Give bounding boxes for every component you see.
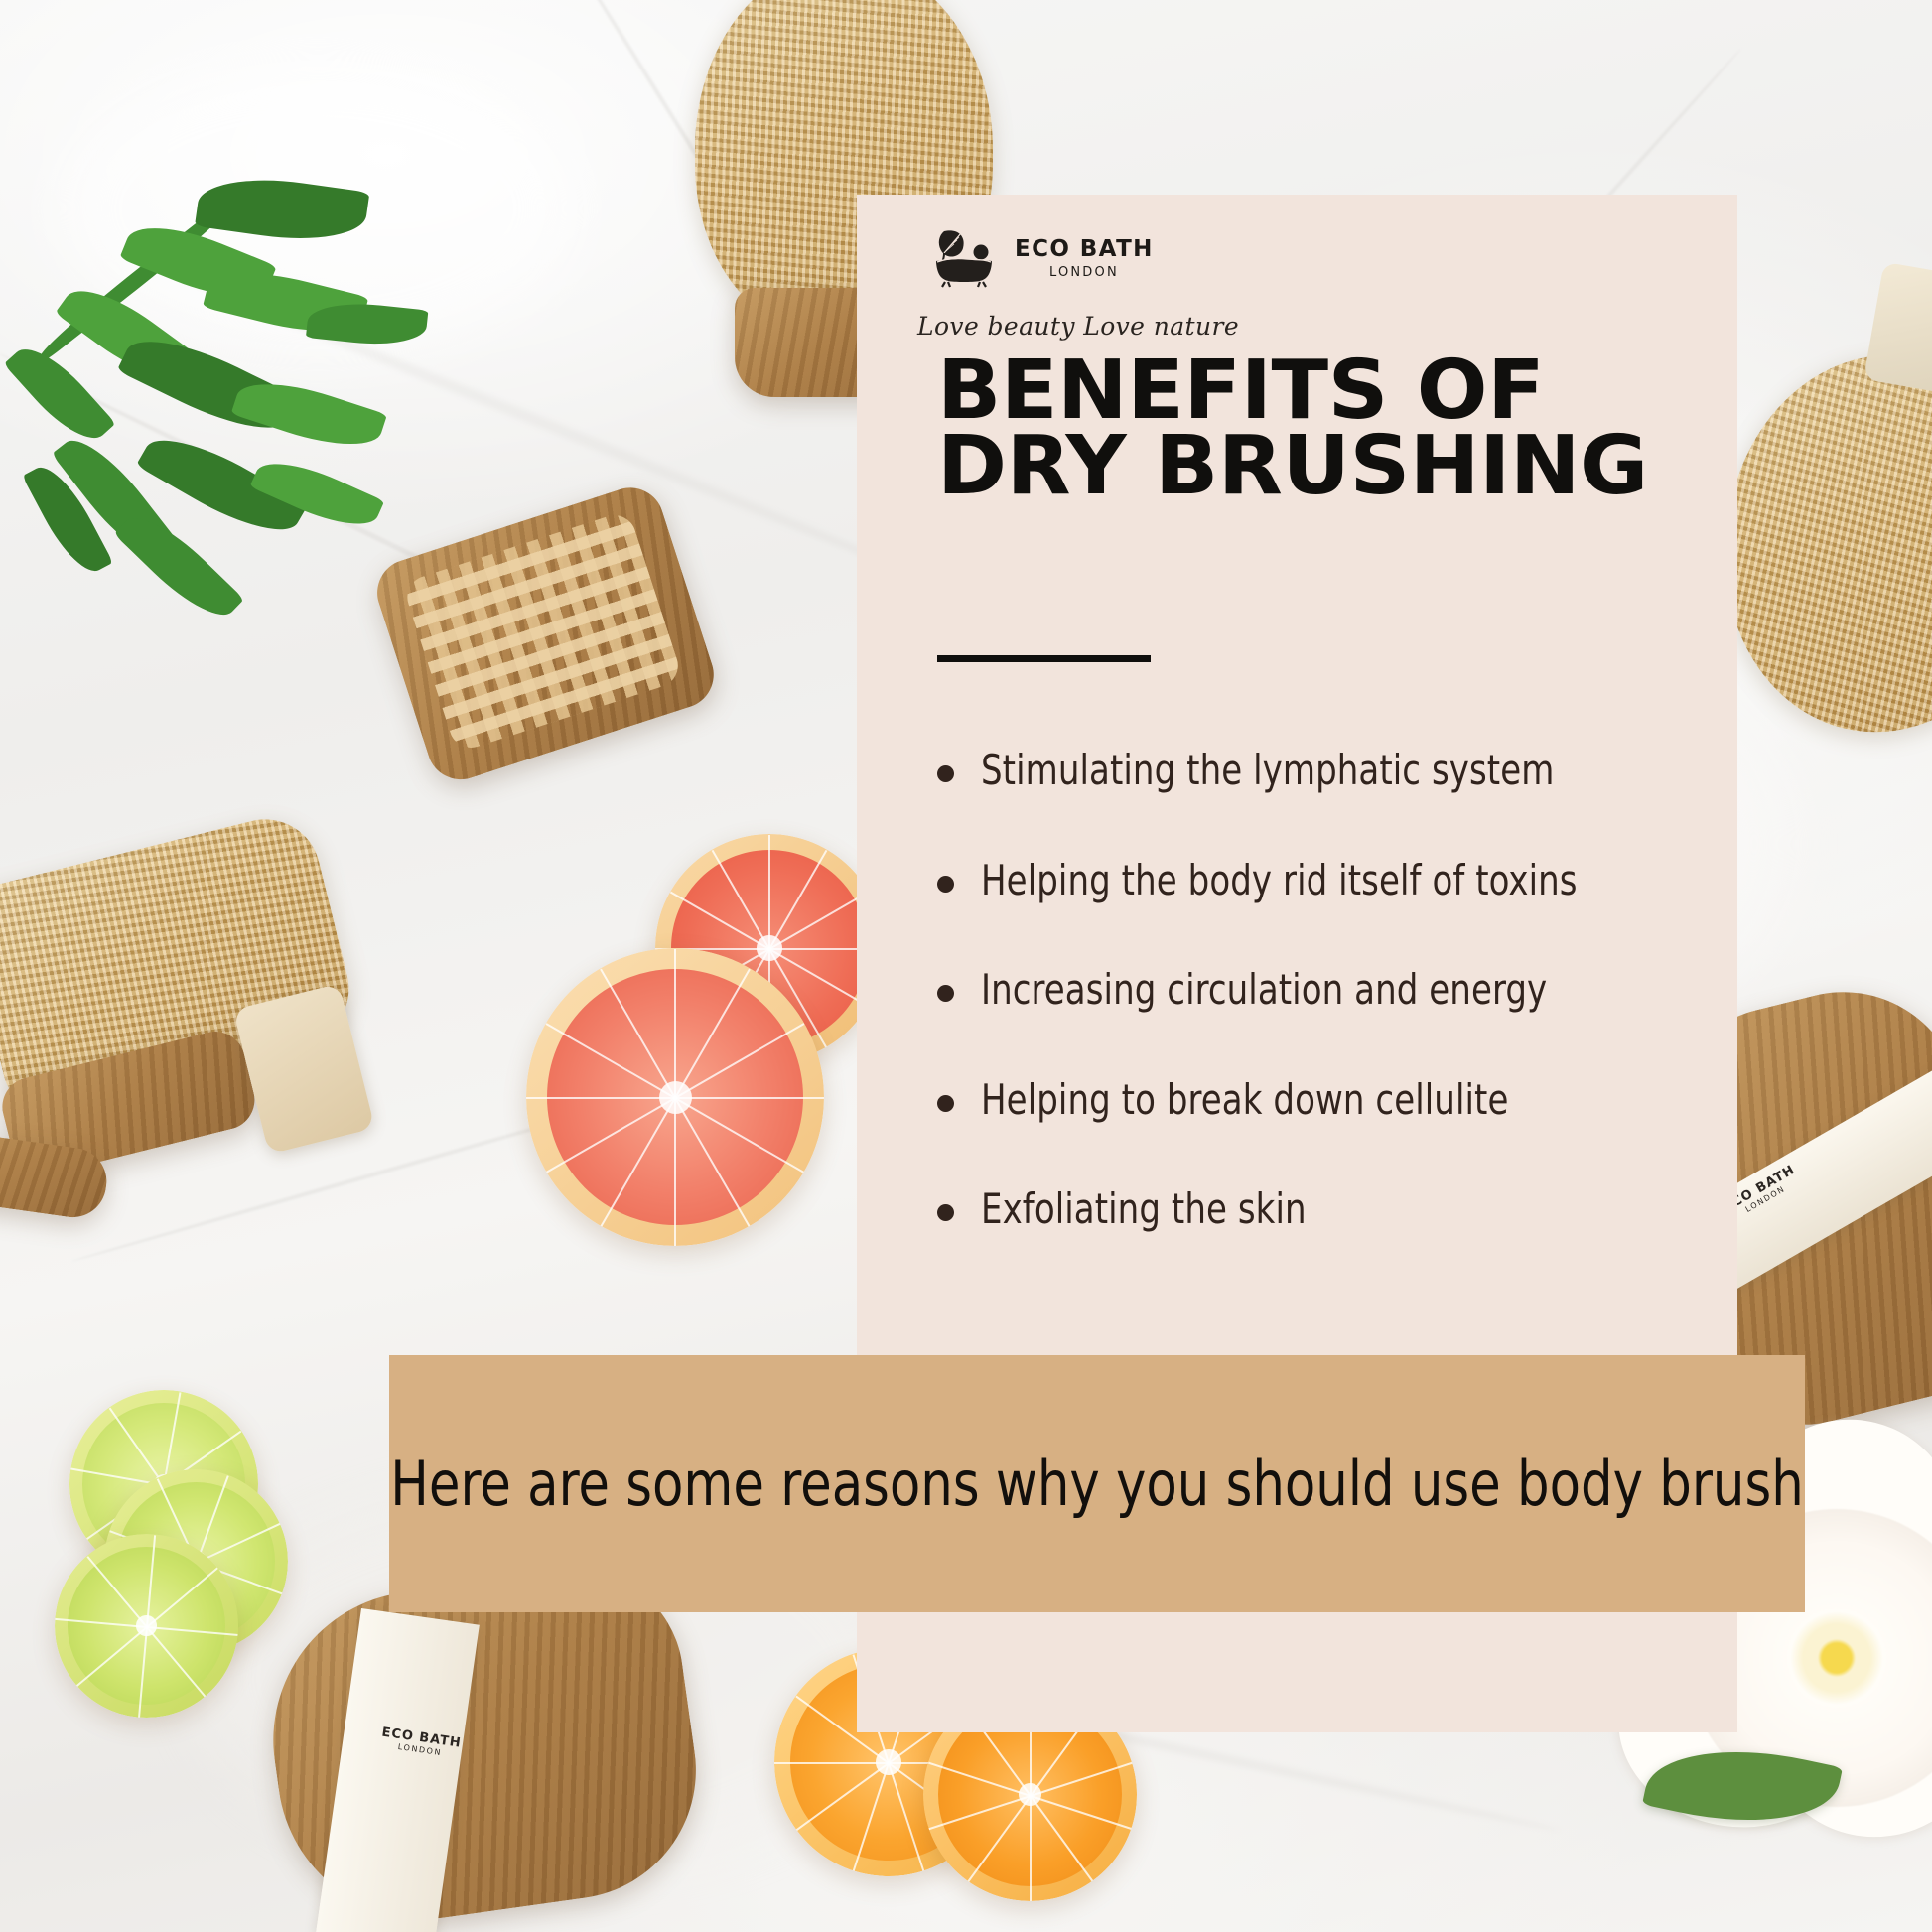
bottom-banner: Here are some reasons why you should use… (389, 1355, 1805, 1612)
benefit-text: Helping the body rid itself of toxins (981, 859, 1578, 903)
fern-leaf (10, 119, 437, 576)
grapefruit-slice-round (526, 948, 824, 1246)
brand-tagline: Love beauty Love nature (914, 312, 1242, 341)
bullet-dot-icon (937, 876, 954, 893)
list-item: Helping to break down cellulite (937, 1078, 1722, 1123)
banner-text-wrap: Here are some reasons why you should use… (446, 1355, 1748, 1612)
list-item: Stimulating the lymphatic system (937, 749, 1722, 793)
title-divider (937, 655, 1151, 662)
list-item: Exfoliating the skin (937, 1187, 1722, 1232)
page-title-line2: DRY BRUSHING (937, 429, 1755, 504)
bullet-dot-icon (937, 985, 954, 1002)
page-title-line1: BENEFITS OF (937, 353, 1755, 429)
benefits-list: Stimulating the lymphatic system Helping… (937, 749, 1722, 1232)
page-title: BENEFITS OF DRY BRUSHING (937, 353, 1755, 505)
benefit-text: Increasing circulation and energy (981, 968, 1547, 1013)
brand-logo: ECO BATH LONDON (932, 228, 1154, 288)
poster-canvas: ECO BATH LONDON ECO BATH LONDON (0, 0, 1932, 1932)
benefit-text: Exfoliating the skin (981, 1187, 1307, 1232)
bullet-dot-icon (937, 1095, 954, 1112)
list-item: Increasing circulation and energy (937, 968, 1722, 1013)
benefit-text: Stimulating the lymphatic system (981, 749, 1554, 793)
lime-slice (55, 1534, 238, 1718)
brand-location: LONDON (1015, 266, 1154, 279)
banner-text: Here are some reasons why you should use… (390, 1448, 1803, 1520)
bullet-dot-icon (937, 1204, 954, 1221)
bathtub-leaf-icon (932, 228, 1000, 288)
list-item: Helping the body rid itself of toxins (937, 859, 1722, 903)
bullet-dot-icon (937, 765, 954, 782)
brand-name: ECO BATH (1015, 238, 1154, 261)
benefit-text: Helping to break down cellulite (981, 1078, 1508, 1123)
